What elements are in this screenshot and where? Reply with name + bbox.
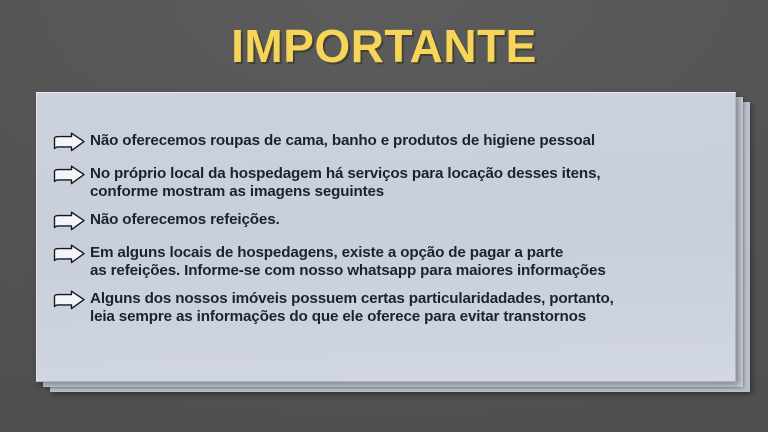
block-arrow-right-icon: [51, 244, 87, 267]
block-arrow-right-icon: [51, 211, 87, 234]
page-title: IMPORTANTE: [0, 22, 768, 70]
block-arrow-right-icon: [51, 290, 87, 313]
list-item-label: Não oferecemos roupas de cama, banho e p…: [90, 131, 595, 150]
slide-canvas: IMPORTANTE Não oferecemos roupas de cama…: [0, 0, 768, 432]
list-item: Não oferecemos roupas de cama, banho e p…: [51, 131, 727, 155]
list-item: Alguns dos nossos imóveis possuem certas…: [51, 289, 727, 326]
list-item: No próprio local da hospedagem há serviç…: [51, 164, 727, 201]
block-arrow-right-icon: [51, 165, 87, 188]
block-arrow-right-icon: [51, 132, 87, 155]
list-item: Não oferecemos refeições.: [51, 210, 727, 234]
list-item-label: Não oferecemos refeições.: [90, 210, 280, 229]
list-item-label: Alguns dos nossos imóveis possuem certas…: [90, 289, 614, 326]
bullet-list: Não oferecemos roupas de cama, banho e p…: [51, 131, 727, 326]
list-item-label: Em alguns locais de hospedagens, existe …: [90, 243, 606, 280]
list-item: Em alguns locais de hospedagens, existe …: [51, 243, 727, 280]
content-card-stack: Não oferecemos roupas de cama, banho e p…: [36, 92, 736, 390]
content-panel: Não oferecemos roupas de cama, banho e p…: [36, 92, 736, 382]
list-item-label: No próprio local da hospedagem há serviç…: [90, 164, 600, 201]
